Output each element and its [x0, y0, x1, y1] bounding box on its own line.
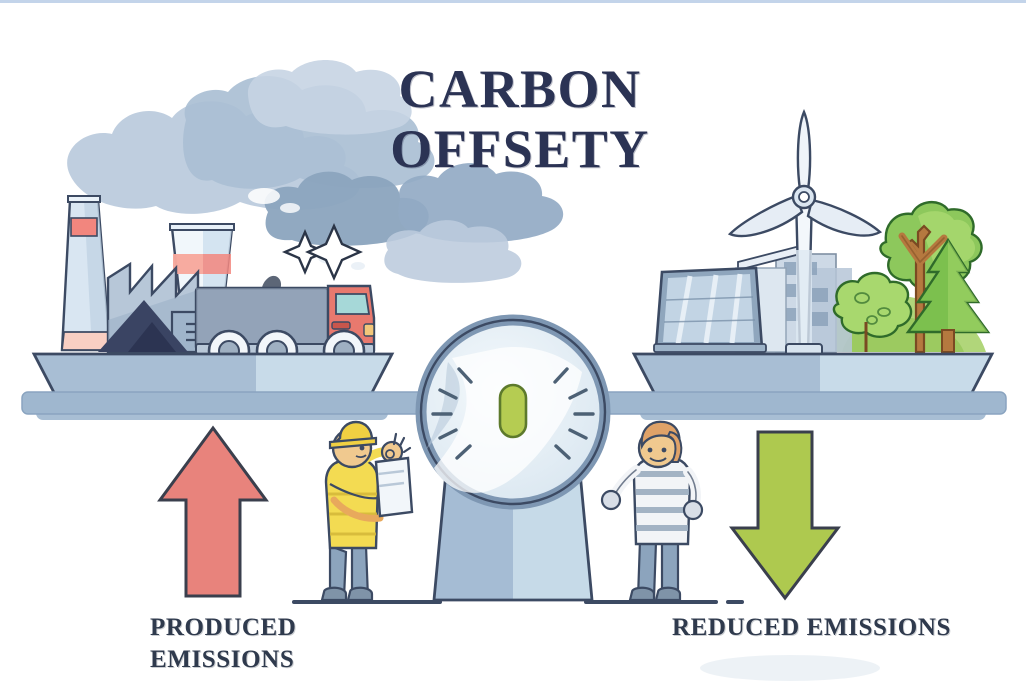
infographic-canvas: CARBON OFFSETY PRODUCED EMISSIONS REDUCE… — [0, 0, 1026, 691]
person-hand-left — [602, 491, 620, 509]
arrow-down-reduced — [732, 432, 838, 598]
worker-boot-left — [322, 588, 346, 600]
truck-window — [336, 294, 369, 314]
solar-panel — [654, 268, 766, 352]
person-shirt — [634, 458, 690, 544]
caption-reduced-emissions: REDUCED EMISSIONS — [672, 612, 1002, 644]
person-shoe-left — [630, 588, 654, 600]
caption-produced-emissions: PRODUCED EMISSIONS — [150, 612, 450, 676]
worker-with-clipboard — [322, 422, 412, 600]
person-waving — [602, 422, 702, 600]
person-hand-right — [684, 501, 702, 519]
carbon-offset-illustration — [0, 0, 1026, 691]
turbine-blade-right — [808, 200, 880, 235]
arrow-up-produced — [160, 428, 266, 596]
caption-produced-line-1: PRODUCED — [150, 612, 450, 644]
turbine-blade-left — [730, 196, 802, 236]
caption-shadow — [700, 655, 880, 681]
worker-clipboard — [376, 458, 412, 516]
gauge-dial — [421, 320, 605, 504]
worker-boot-right — [348, 588, 372, 600]
person-shoe-right — [656, 588, 680, 600]
turbine-blade-top — [798, 112, 810, 190]
smokestack — [62, 196, 110, 350]
gauge-needle — [500, 385, 526, 437]
caption-produced-line-2: EMISSIONS — [150, 644, 450, 676]
